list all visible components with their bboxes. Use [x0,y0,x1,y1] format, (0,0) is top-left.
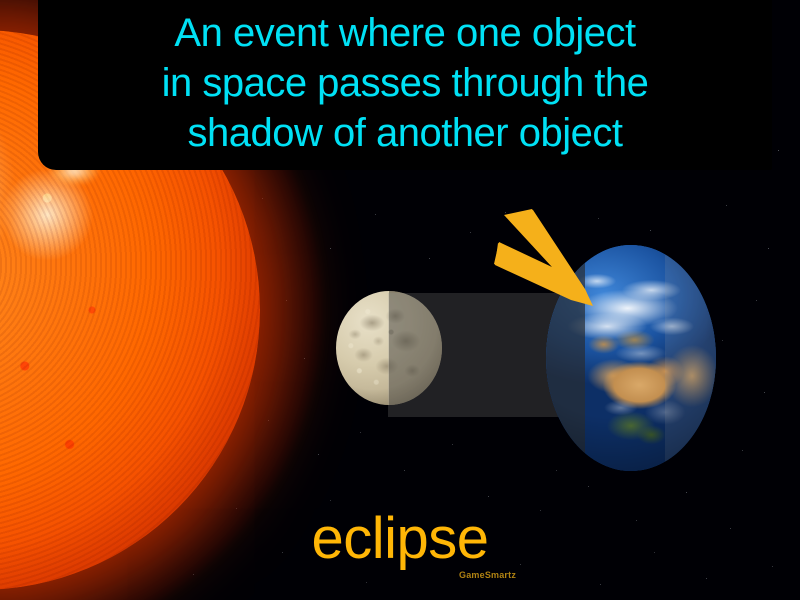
term-title: eclipse [0,508,800,570]
definition-text: An event where one object in space passe… [48,8,762,158]
definition-panel: An event where one object in space passe… [38,0,772,170]
flashcard: An event where one object in space passe… [0,0,800,600]
watermark-label: GameSmartz [459,570,516,580]
shadow-band [388,293,566,417]
arrow-icon [492,203,596,309]
